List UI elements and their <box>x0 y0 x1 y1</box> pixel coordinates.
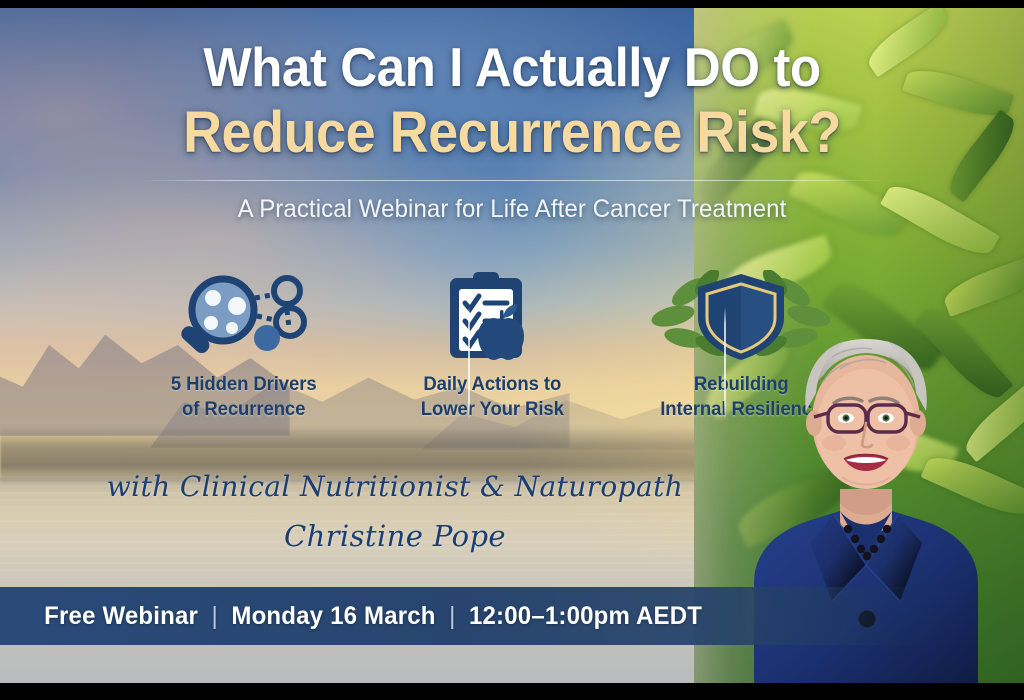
letterbox-bottom-bar <box>0 683 1024 700</box>
banner-time: 12:00–1:00pm AEDT <box>469 602 702 631</box>
event-details-banner: Free Webinar | Monday 16 March | 12:00–1… <box>0 587 1024 645</box>
presenter-name: Christine Pope <box>0 519 790 553</box>
banner-separator-1: | <box>212 602 218 631</box>
letterbox-top-bar <box>0 0 1024 8</box>
page-subtitle: A Practical Webinar for Life After Cance… <box>20 195 1003 224</box>
feature-label-line-1: 5 Hidden Drivers <box>171 373 317 395</box>
poster-canvas: What Can I Actually DO to Reduce Recurre… <box>0 0 1024 700</box>
feature-label-daily-actions: Daily Actions to Lower Your Risk <box>421 372 564 422</box>
title-divider-rule <box>141 180 883 181</box>
feature-item-hidden-drivers: 5 Hidden Drivers of Recurrence <box>120 270 368 430</box>
event-details-text: Free Webinar | Monday 16 March | 12:00–1… <box>0 602 702 631</box>
magnifier-molecule-icon <box>169 270 319 362</box>
feature-label-line-2: Lower Your Risk <box>421 398 564 420</box>
feature-divider-2 <box>724 308 726 420</box>
feature-divider-1 <box>468 308 470 420</box>
clipboard-checklist-apple-icon <box>428 270 556 362</box>
feature-item-daily-actions: Daily Actions to Lower Your Risk <box>368 270 616 430</box>
artwork-area: What Can I Actually DO to Reduce Recurre… <box>0 8 1024 683</box>
banner-date: Monday 16 March <box>231 602 435 631</box>
banner-separator-2: | <box>449 602 455 631</box>
feature-label-hidden-drivers: 5 Hidden Drivers of Recurrence <box>171 372 317 422</box>
page-title-line-1: What Can I Actually DO to <box>36 38 988 96</box>
feature-label-line-2: of Recurrence <box>182 398 305 420</box>
banner-price: Free Webinar <box>44 602 198 631</box>
feature-label-line-1: Daily Actions to <box>424 373 562 395</box>
presenter-role: with Clinical Nutritionist & Naturopath <box>0 470 790 503</box>
presenter-credit: with Clinical Nutritionist & Naturopath … <box>0 470 790 553</box>
headline-block: What Can I Actually DO to Reduce Recurre… <box>0 8 1024 224</box>
page-title-line-2: Reduce Recurrence Risk? <box>36 102 988 163</box>
